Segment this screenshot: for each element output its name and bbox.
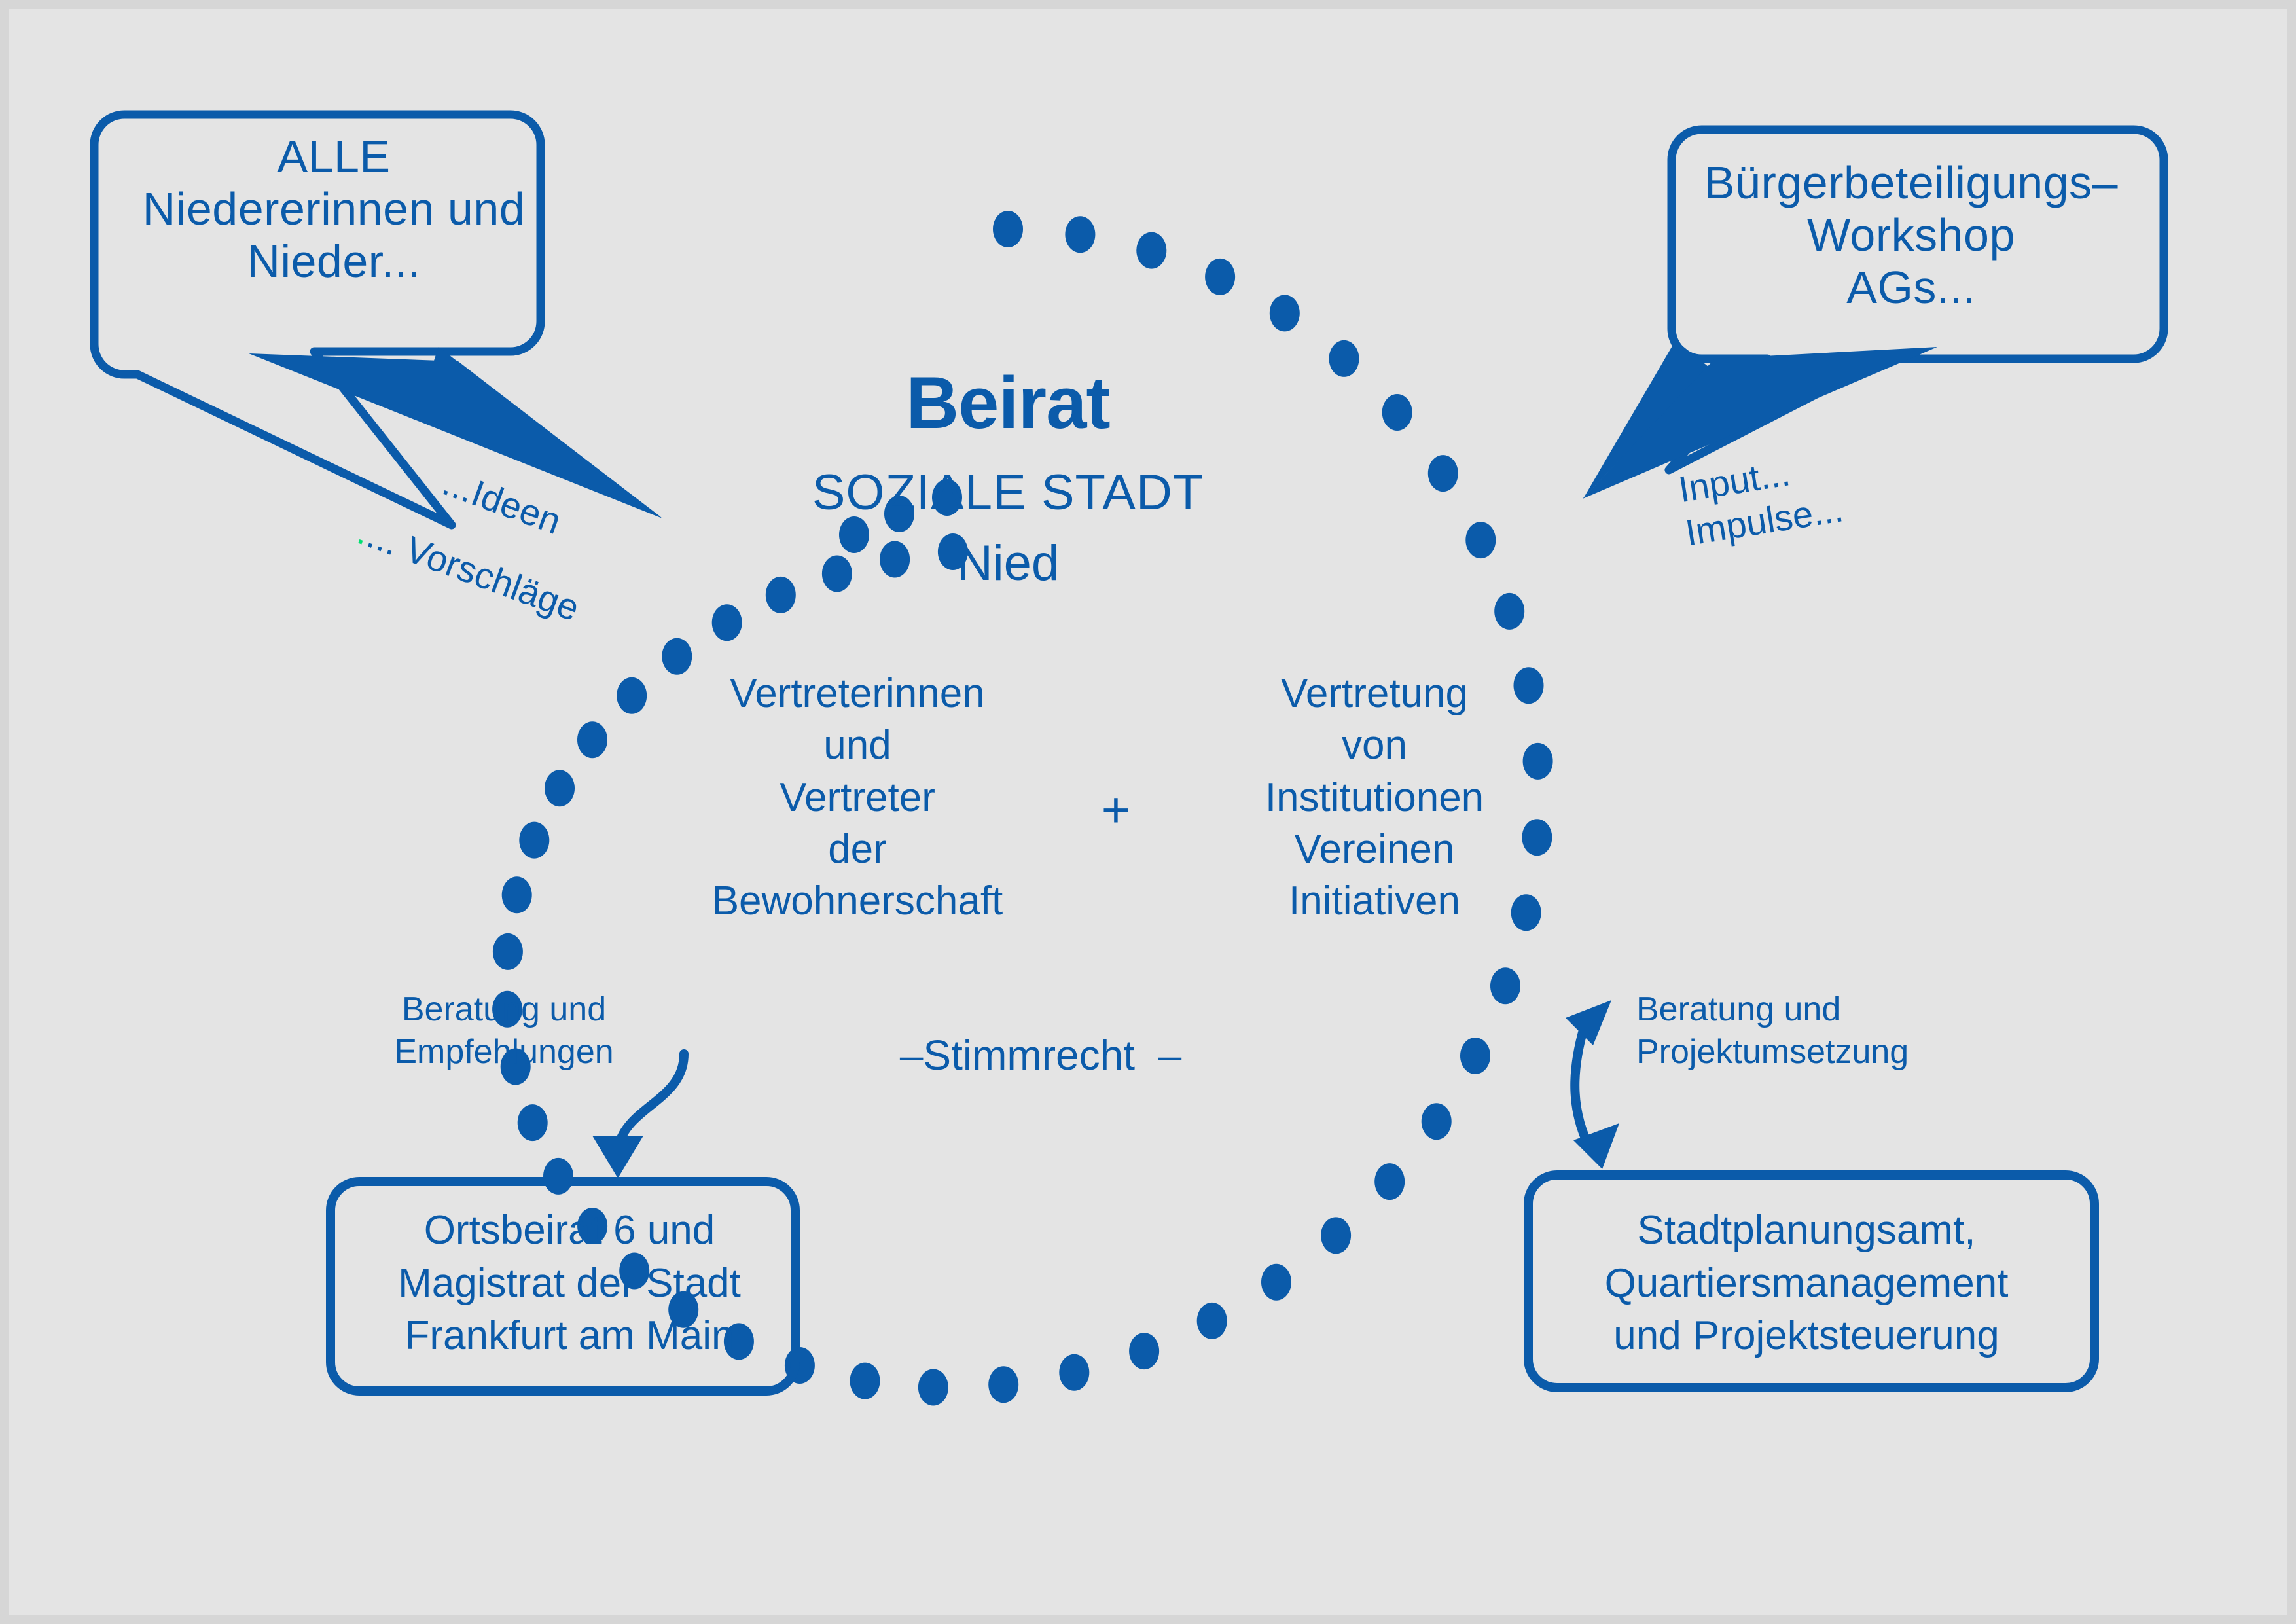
label-beratung-projektumsetzung: Beratung und Projektumsetzung: [1636, 988, 1944, 1074]
stimmrecht-note: –Stimmrecht –: [857, 1032, 1224, 1079]
members-column-institutions: Vertretung von Institutionen Vereinen In…: [1172, 668, 1577, 928]
members-column-residents: Vertreterinnen und Vertreter der Bewohne…: [655, 668, 1060, 928]
speech-bubble-top-left-label: ALLE Niedererinnen und Nieder...: [98, 131, 569, 287]
diagram-stage: ALLE Niedererinnen und Nieder... Bürgerb…: [0, 0, 2296, 1624]
label-beratung-empfehlungen: Beratung und Empfehlungen: [367, 988, 641, 1074]
plus-sign: +: [1060, 782, 1172, 839]
beirat-subtitle-line2: Nied: [746, 535, 1270, 592]
arrow-beratung-projektumsetzung: [1566, 1000, 1619, 1169]
ortsbeirat-magistrat-box-label: Ortsbeirat 6 und Magistrat der Stadt Fra…: [340, 1204, 798, 1363]
speech-bubble-top-right-label: Bürgerbeteiligungs– Workshop AGs...: [1676, 157, 2147, 314]
stadtplanungsamt-box-label: Stadtplanungsamt, Quartiersmanagement un…: [1545, 1204, 2068, 1363]
beirat-title: Beirat: [746, 361, 1270, 445]
beirat-subtitle-line1: SOZIALE STADT: [746, 465, 1270, 522]
